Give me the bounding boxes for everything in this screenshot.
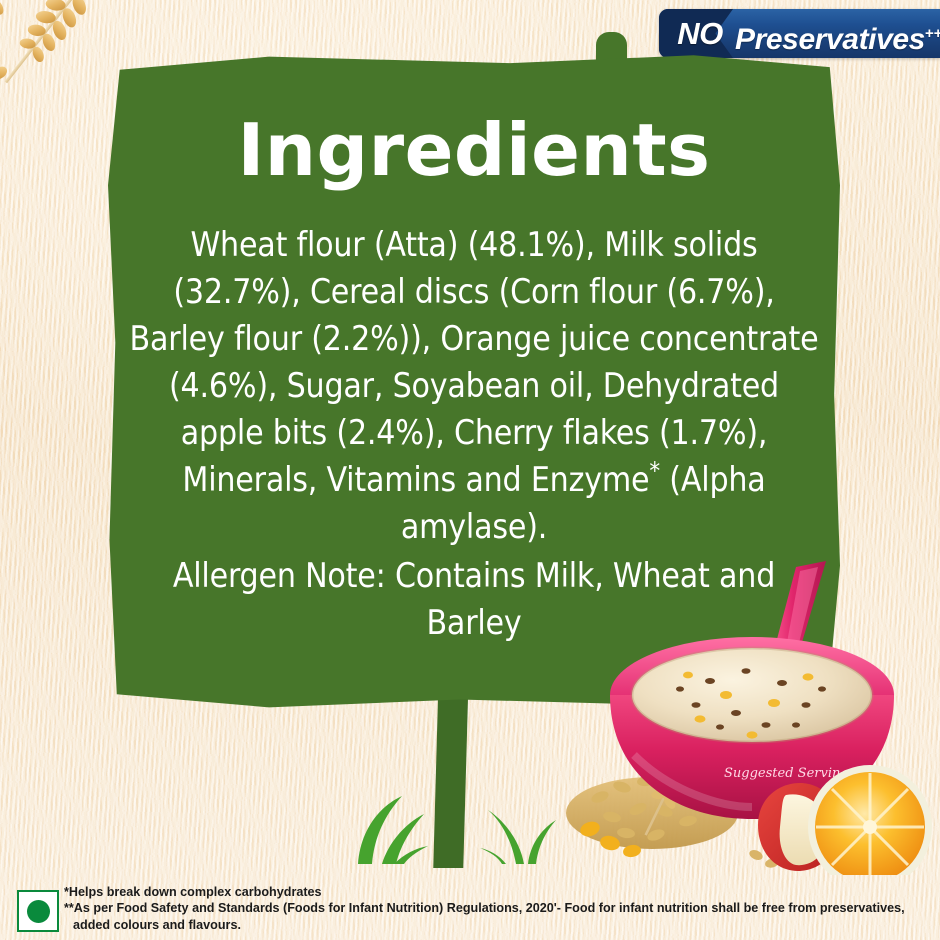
product-packaging-panel: NO Preservatives++ Ingredients Wheat flo… bbox=[0, 0, 940, 940]
footnote-enzyme: *Helps break down complex carbohydrates bbox=[64, 884, 924, 900]
ingredients-list-text: Wheat flour (Atta) (48.1%), Milk solids … bbox=[126, 221, 822, 646]
allergen-note: Allergen Note: Contains Milk, Wheat and … bbox=[126, 552, 822, 646]
no-preservatives-badge: NO Preservatives++ bbox=[659, 9, 940, 58]
ingredients-board: Ingredients Wheat flour (Atta) (48.1%), … bbox=[108, 54, 840, 710]
badge-no-label: NO bbox=[668, 13, 732, 55]
footnotes: *Helps break down complex carbohydrates … bbox=[64, 884, 924, 933]
badge-superscript: ++ bbox=[925, 25, 940, 42]
badge-word-text: Preservatives bbox=[735, 23, 925, 56]
board-content: Ingredients Wheat flour (Atta) (48.1%), … bbox=[108, 54, 840, 710]
enzyme-footnote-marker: * bbox=[649, 457, 660, 485]
vegetarian-dot bbox=[27, 900, 50, 923]
page-title: Ingredients bbox=[108, 114, 840, 186]
badge-preservatives-label: Preservatives++ bbox=[735, 13, 940, 55]
vegetarian-mark-icon bbox=[17, 890, 59, 932]
footnote-regulation-continued: added colours and flavours. bbox=[64, 917, 924, 933]
footnote-regulation: **As per Food Safety and Standards (Food… bbox=[64, 900, 924, 916]
ingredients-main: Wheat flour (Atta) (48.1%), Milk solids … bbox=[130, 225, 819, 499]
